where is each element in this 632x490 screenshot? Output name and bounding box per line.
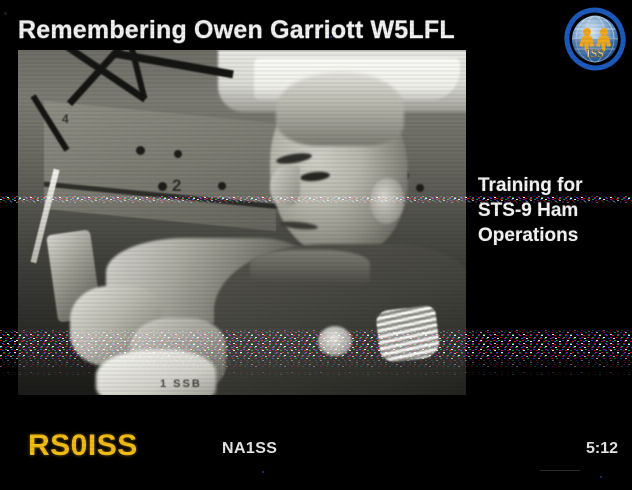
panel-lower-label: 1 SSB [160, 378, 202, 390]
panel-marking-label: 2 [172, 176, 181, 196]
astronaut-photo: 2 4 1 SSB [18, 50, 466, 395]
ariss-logo-text: ISS [586, 46, 604, 60]
caption-block: Training for STS-9 Ham Operations [478, 173, 628, 248]
noise-speck [540, 470, 580, 471]
sstv-image-frame: 2 4 1 SSB Remembering Owen Garriott W5LF… [0, 0, 632, 490]
noise-speck [262, 471, 264, 473]
caption-line-1: Training for [478, 173, 628, 198]
panel-knob-1 [136, 146, 145, 155]
equipment-panel [44, 101, 276, 231]
panel-knob-4 [218, 182, 226, 190]
flight-suit-collar [250, 250, 370, 284]
chest-insignia [318, 326, 352, 356]
photo-content: 2 4 1 SSB [18, 50, 466, 395]
callsign-secondary: NA1SS [222, 440, 277, 458]
noise-speck [600, 476, 602, 478]
astronaut-nose [270, 166, 300, 206]
ariss-logo: ISS [563, 6, 627, 72]
panel-knob-2 [174, 150, 182, 158]
timestamp: 5:12 [586, 440, 618, 458]
astronaut-hair [276, 72, 404, 146]
caption-line-3: Operations [478, 223, 628, 248]
noise-speck [4, 12, 7, 15]
page-title: Remembering Owen Garriott W5LFL [18, 16, 455, 45]
panel-knob-7 [416, 184, 424, 192]
panel-knob-3 [158, 182, 167, 191]
caption-line-2: STS-9 Ham [478, 198, 628, 223]
callsign-primary: RS0ISS [28, 429, 138, 463]
shoulder-patch [375, 305, 441, 364]
panel-small-label: 4 [62, 112, 69, 126]
ariss-logo-svg: ISS [563, 6, 627, 72]
